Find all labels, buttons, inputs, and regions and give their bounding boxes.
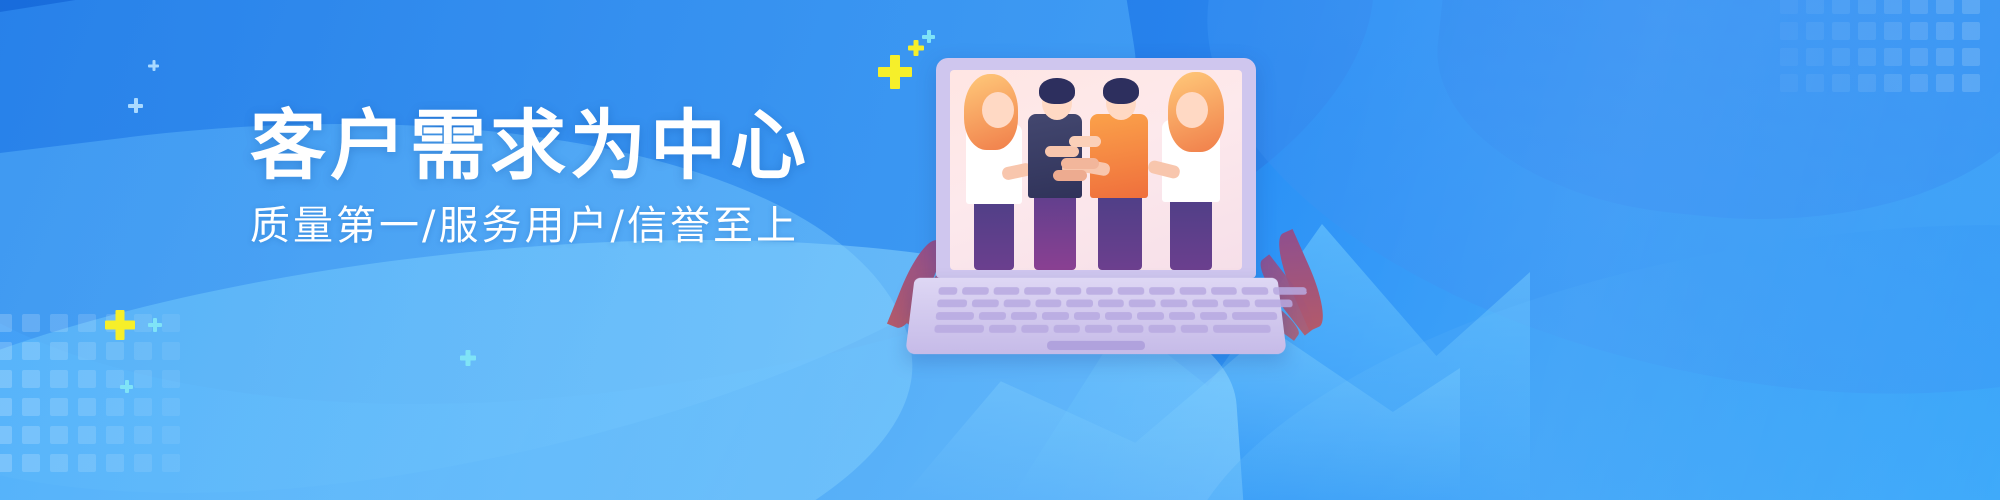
keyboard-key: [1242, 287, 1269, 295]
keyboard-key: [1021, 325, 1048, 333]
laptop-illustration: [900, 40, 1320, 370]
person-3-hair: [1103, 78, 1139, 104]
keyboard-key: [1024, 287, 1050, 295]
keyboard-key: [1181, 325, 1208, 333]
dot-grid-bottom-left: [0, 314, 194, 494]
laptop-lid: [936, 58, 1256, 278]
keyboard-key: [1211, 287, 1238, 295]
subline-text: 质量第一/服务用户/信誉至上: [250, 206, 950, 246]
keyboard-key: [937, 300, 968, 308]
person-4-woman-blonde: [1150, 78, 1230, 270]
keyboard-key: [979, 312, 1006, 320]
wave-top-right: [1423, 0, 2000, 251]
keyboard-key: [1168, 312, 1195, 320]
promo-banner: 客户需求为中心 质量第一/服务用户/信誉至上: [0, 0, 2000, 500]
keyboard-key: [1180, 287, 1207, 295]
keyboard-key: [938, 287, 957, 295]
keyboard-key: [1003, 300, 1030, 308]
keyboard-key: [1137, 312, 1164, 320]
keyboard-key: [1192, 300, 1219, 308]
laptop-keyboard: [934, 287, 1258, 334]
keyboard-key: [1098, 300, 1124, 308]
keyboard-key: [972, 300, 999, 308]
keyboard-key: [1273, 287, 1308, 295]
keyboard-key: [1055, 287, 1081, 295]
keyboard-key: [1035, 300, 1062, 308]
keyboard-key: [1129, 300, 1156, 308]
plus-white-upper-icon: [148, 60, 159, 71]
keyboard-key: [1223, 300, 1250, 308]
keyboard-key: [1053, 325, 1080, 333]
plus-white-topleft-icon: [128, 98, 143, 113]
plus-cyan-left-icon: [148, 318, 162, 332]
laptop-screen: [950, 70, 1242, 270]
dot-grid-top-right: [1780, 0, 1990, 116]
keyboard-key: [989, 325, 1016, 333]
keyboard-key: [1042, 312, 1069, 320]
keyboard-key: [935, 312, 974, 320]
keyboard-key: [1010, 312, 1037, 320]
plus-cyan-leftup-icon: [120, 380, 133, 393]
person-2-hair: [1039, 78, 1075, 104]
keyboard-key: [1066, 300, 1092, 308]
joined-hands-icon: [1045, 140, 1111, 184]
headline-text: 客户需求为中心: [250, 108, 950, 184]
keyboard-key: [934, 325, 985, 333]
laptop-base: [905, 278, 1287, 354]
keyboard-key: [1200, 312, 1227, 320]
keyboard-key: [1160, 300, 1187, 308]
keyboard-key: [993, 287, 1020, 295]
person-4-head: [1176, 92, 1208, 128]
keyboard-key: [1117, 325, 1144, 333]
keyboard-key: [1105, 312, 1132, 320]
copy-block: 客户需求为中心 质量第一/服务用户/信誉至上: [250, 108, 950, 246]
keyboard-key: [1074, 312, 1101, 320]
keyboard-key: [962, 287, 989, 295]
keyboard-key: [1254, 300, 1293, 308]
keyboard-key: [1087, 287, 1113, 295]
laptop-trackpad: [1047, 341, 1145, 350]
plus-yellow-left-icon: [105, 310, 135, 340]
keyboard-key: [1232, 312, 1278, 320]
keyboard-key: [1212, 325, 1270, 333]
keyboard-key: [1149, 325, 1176, 333]
person-1-head: [982, 92, 1014, 128]
keyboard-key: [1118, 287, 1144, 295]
plus-cyan-mid-icon: [460, 350, 476, 366]
keyboard-key: [1085, 325, 1112, 333]
keyboard-key: [1149, 287, 1176, 295]
